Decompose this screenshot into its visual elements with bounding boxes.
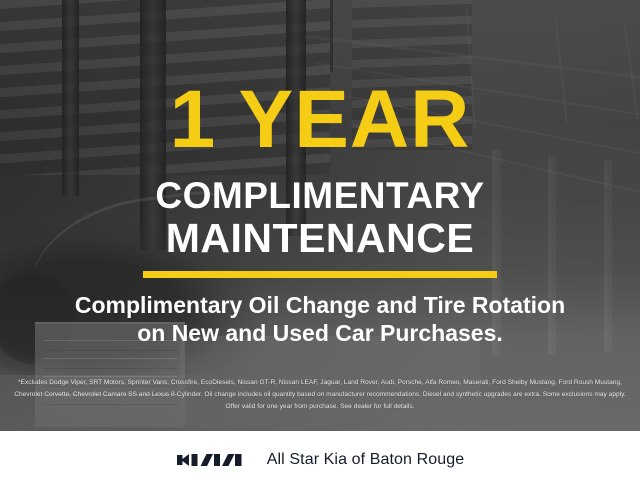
hero-photo-region: 1 YEAR COMPLIMENTARY MAINTENANCE Complim… xyxy=(0,0,640,431)
dealer-name: All Star Kia of Baton Rouge xyxy=(267,451,464,469)
kia-wordmark-logo[interactable] xyxy=(176,449,250,471)
banner-copy: 1 YEAR COMPLIMENTARY MAINTENANCE Complim… xyxy=(0,0,640,431)
headline-secondary-line2: MAINTENANCE xyxy=(0,217,640,259)
advertisement-banner[interactable]: 1 YEAR COMPLIMENTARY MAINTENANCE Complim… xyxy=(0,0,640,488)
headline-primary: 1 YEAR xyxy=(0,79,640,161)
footer-bar: All Star Kia of Baton Rouge xyxy=(0,431,640,488)
subheadline-line2: on New and Used Car Purchases. xyxy=(24,319,616,347)
disclaimer-text: *Excludes Dodge Viper, SRT Motors, Sprin… xyxy=(14,377,626,412)
yellow-divider-rule xyxy=(143,271,497,278)
subheadline: Complimentary Oil Change and Tire Rotati… xyxy=(24,291,616,347)
headline-secondary-line1: COMPLIMENTARY xyxy=(0,177,640,215)
subheadline-line1: Complimentary Oil Change and Tire Rotati… xyxy=(24,291,616,319)
